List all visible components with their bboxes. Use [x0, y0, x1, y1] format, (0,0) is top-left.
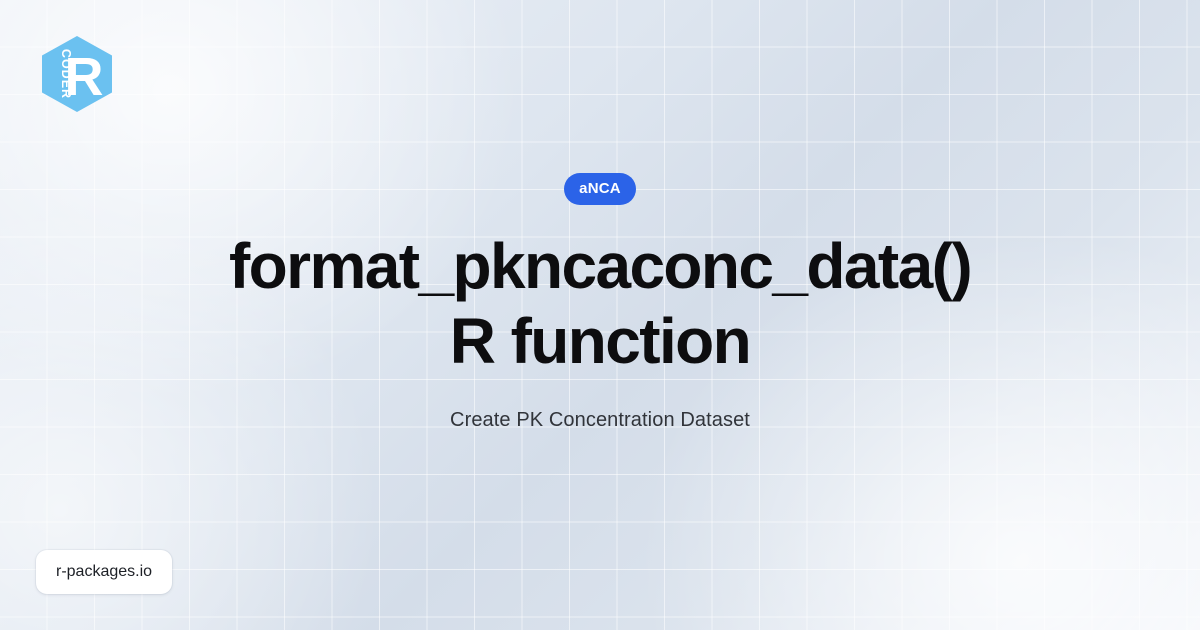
page-title: format_pkncaconc_data() R function [229, 229, 971, 379]
site-domain-chip: r-packages.io [36, 550, 172, 594]
og-card: R CODER aNCA format_pkncaconc_data() R f… [0, 0, 1200, 630]
card-content: aNCA format_pkncaconc_data() R function … [0, 0, 1200, 630]
page-subtitle: Create PK Concentration Dataset [450, 407, 750, 433]
page-title-line-1: format_pkncaconc_data() [229, 229, 971, 304]
page-title-line-2: R function [229, 304, 971, 379]
package-badge: aNCA [564, 173, 636, 205]
